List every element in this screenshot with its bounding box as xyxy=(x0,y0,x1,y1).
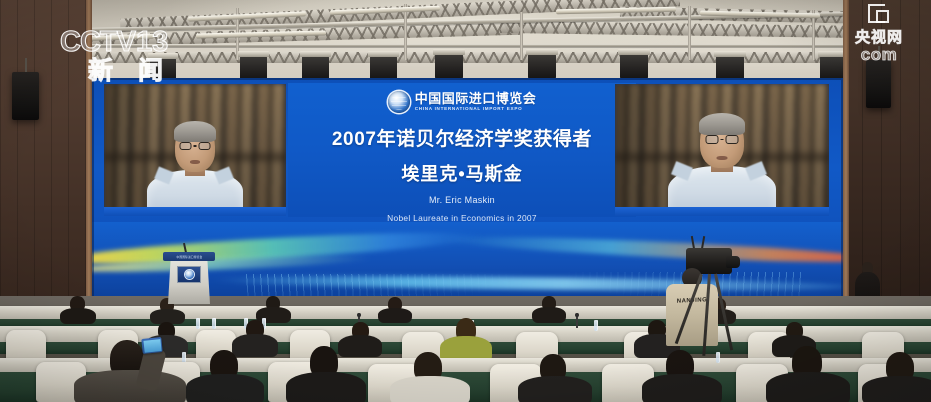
speaker-hair xyxy=(174,121,216,142)
attendee-shoulders xyxy=(232,334,278,357)
attendee-shoulders xyxy=(642,374,722,402)
speaker-hair-right xyxy=(699,113,745,135)
attendee-phone xyxy=(141,337,162,354)
truss-post-2 xyxy=(404,4,407,60)
speaker-name-en: Mr. Eric Maskin xyxy=(429,195,495,205)
watermark-name-cn: 央视网 xyxy=(855,30,903,45)
attendee-shoulders xyxy=(766,372,850,402)
spotlight-7 xyxy=(528,54,556,80)
cctv-wordmark: CCTV xyxy=(60,26,135,58)
ciie-name-en: CHINA INTERNATIONAL IMPORT EXPO xyxy=(415,107,537,112)
water-bottle xyxy=(716,352,720,363)
cctv-logo-row: CCTV13 xyxy=(60,28,172,57)
right-hanging-speaker xyxy=(866,60,891,108)
podium: 中国国际进口博览会 xyxy=(168,252,210,304)
left-hanging-speaker xyxy=(12,72,39,120)
attendee-shoulders xyxy=(518,376,592,402)
audience-area xyxy=(0,296,931,402)
podium-header: 中国国际进口博览会 xyxy=(163,252,215,261)
glasses-lens-right-right xyxy=(726,135,739,144)
speaker-mouth-right xyxy=(717,156,728,160)
watermark-domain: com xyxy=(855,46,903,63)
spotlight-8 xyxy=(620,54,648,80)
attendee-shoulders xyxy=(378,308,412,323)
glasses-bridge-right xyxy=(721,139,724,141)
video-lower-band-right xyxy=(615,207,829,216)
screen-content-panel: 中国国际进口博览会 CHINA INTERNATIONAL IMPORT EXP… xyxy=(288,83,636,217)
cctv-channel-number: 13 xyxy=(136,26,168,58)
cctv-channel-name-cn: 新 闻 xyxy=(88,59,172,84)
ciie-logo: 中国国际进口博览会 CHINA INTERNATIONAL IMPORT EXP… xyxy=(388,91,537,113)
video-lower-band-left xyxy=(104,207,286,216)
podium-label: 中国国际进口博览会 xyxy=(176,255,202,259)
speaker-glasses-icon-right xyxy=(706,135,739,144)
cctv-network-watermark: 央视网 com xyxy=(855,4,903,63)
camera-lens-icon xyxy=(726,256,740,268)
water-bottle xyxy=(594,320,598,331)
award-title-cn: 2007年诺贝尔经济学奖获得者 xyxy=(332,124,592,151)
speaker-mouth xyxy=(190,160,200,164)
bracket-frame-icon xyxy=(868,4,890,24)
truss-post-4 xyxy=(688,6,691,60)
water-bottle xyxy=(196,318,200,329)
spotlight-6 xyxy=(435,54,463,80)
attendee-shoulders xyxy=(60,308,96,324)
glasses-lens-left-right xyxy=(706,135,719,144)
table-microphone xyxy=(576,316,578,328)
attendee-shoulders xyxy=(74,370,186,402)
speaker-glasses-icon xyxy=(180,142,211,150)
glasses-bridge xyxy=(194,145,197,147)
attendee-shoulders xyxy=(286,372,366,402)
water-bottle xyxy=(212,318,216,329)
broadcast-frame: 中国国际进口博览会 CHINA INTERNATIONAL IMPORT EXP… xyxy=(0,0,931,402)
right-wall-trim xyxy=(843,0,849,330)
podium-emblem-icon xyxy=(177,266,201,283)
ciie-name-cn: 中国国际进口博览会 xyxy=(415,92,537,105)
light-streak-red xyxy=(443,232,843,267)
glasses-lens-left xyxy=(180,142,192,150)
speaker-name-cn: 埃里克•马斯金 xyxy=(401,160,522,186)
attendee-shoulders xyxy=(862,376,931,402)
video-feed-right xyxy=(615,84,829,216)
glasses-lens-right xyxy=(199,142,211,150)
cctv-channel-logo: CCTV13 新 闻 xyxy=(60,28,172,84)
attendee-shoulders xyxy=(532,307,566,323)
truss-post-3 xyxy=(520,12,523,60)
attendee-shoulders xyxy=(186,374,264,402)
video-feed-left xyxy=(104,84,286,216)
remote-speaker-right xyxy=(615,84,829,216)
remote-speaker-left xyxy=(104,84,286,216)
ciie-logo-text: 中国国际进口博览会 CHINA INTERNATIONAL IMPORT EXP… xyxy=(415,92,537,112)
attendee-shoulders xyxy=(338,335,382,357)
attendee-shoulders xyxy=(390,376,470,402)
ciie-globe-icon xyxy=(388,91,410,113)
